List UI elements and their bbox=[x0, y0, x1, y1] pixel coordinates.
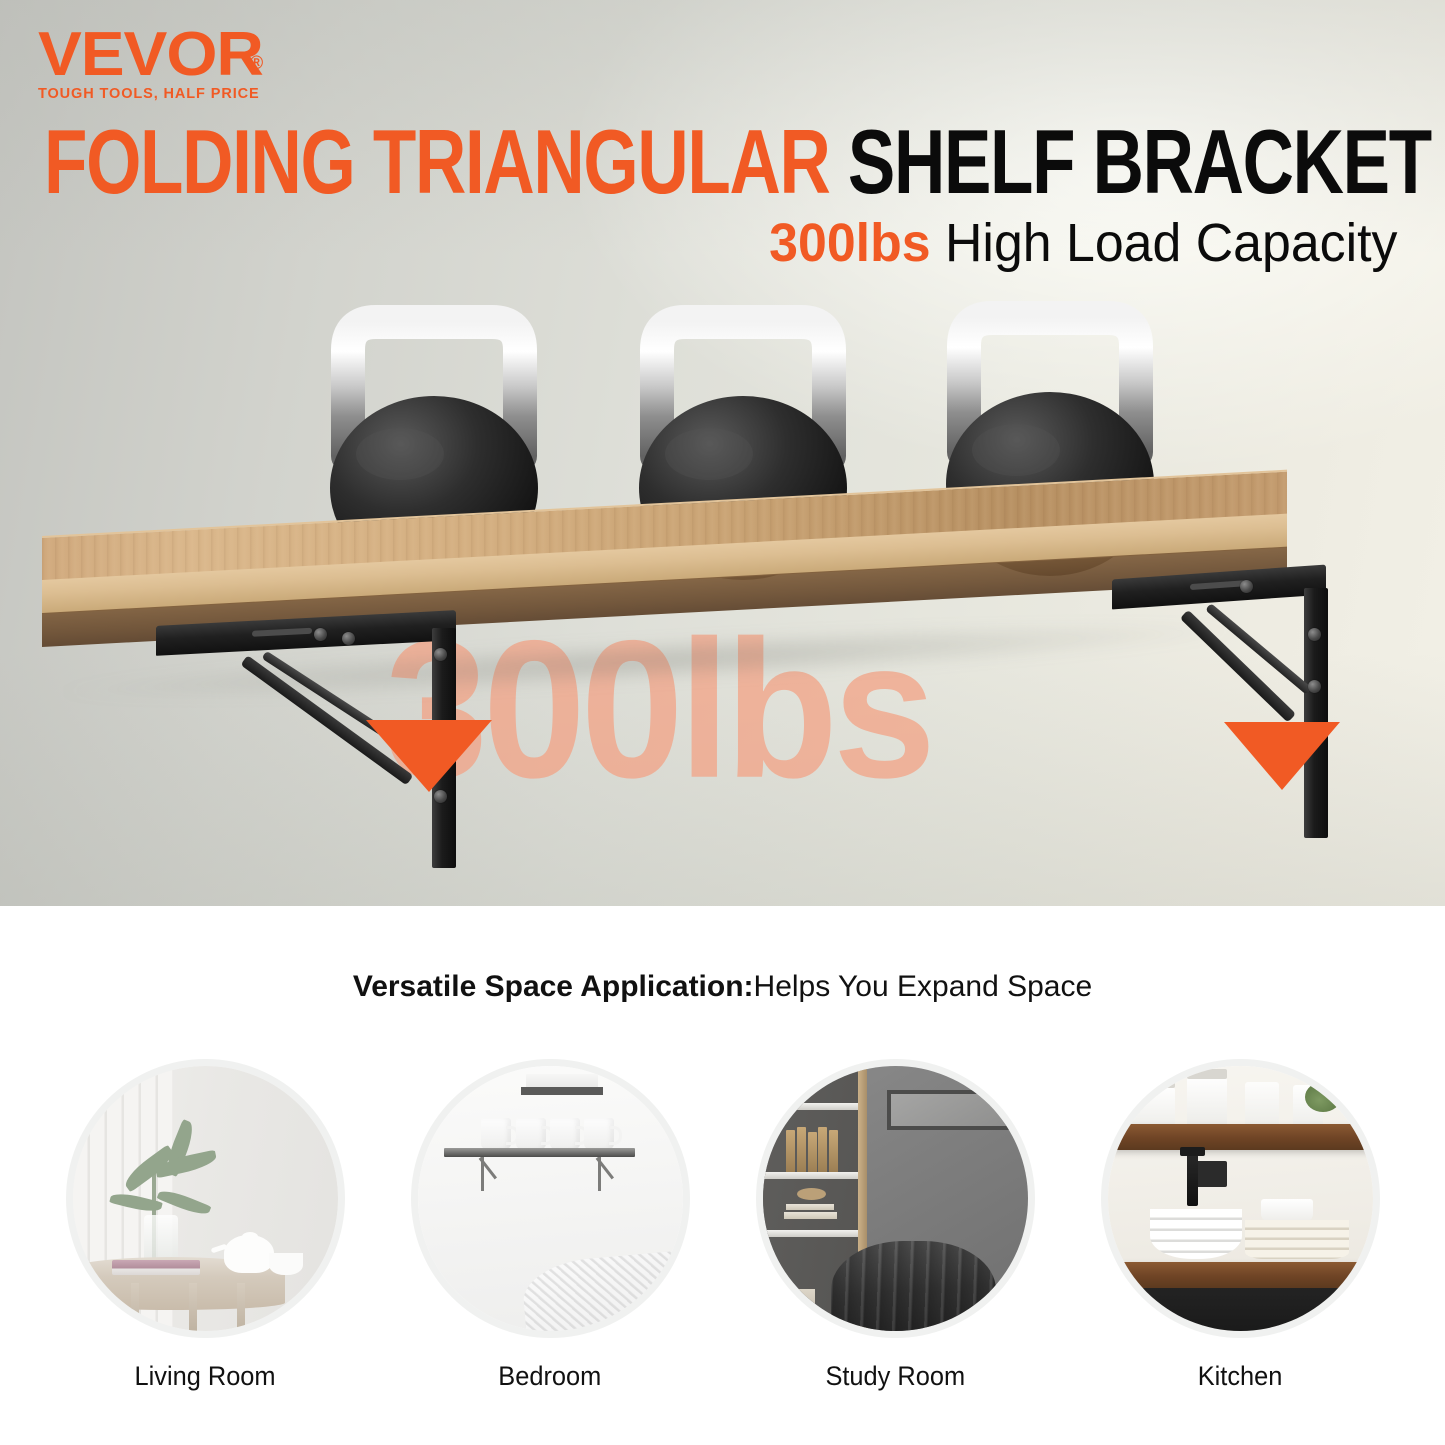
bracket-bolt bbox=[1308, 628, 1321, 641]
application-thumbnail-list: Living Room Bedroom bbox=[0, 1066, 1445, 1392]
bedroom-thumbnail[interactable] bbox=[418, 1066, 683, 1331]
bracket-bolt bbox=[1308, 680, 1321, 693]
subtitle: 300lbs High Load Capacity bbox=[769, 216, 1397, 270]
application-section: Versatile Space Application:Helps You Ex… bbox=[0, 906, 1445, 1445]
load-capacity-value: 300lbs bbox=[769, 213, 930, 273]
application-item-living-room[interactable]: Living Room bbox=[73, 1066, 338, 1392]
registered-trademark-icon: ® bbox=[250, 56, 263, 72]
bracket-arm-right bbox=[1112, 565, 1326, 610]
study-room-thumbnail[interactable] bbox=[763, 1066, 1028, 1331]
bracket-bolt bbox=[342, 632, 355, 645]
living-room-scene bbox=[73, 1066, 338, 1331]
kitchen-label: Kitchen bbox=[1198, 1361, 1283, 1392]
load-arrow-left-icon bbox=[364, 718, 494, 794]
kitchen-thumbnail[interactable] bbox=[1108, 1066, 1373, 1331]
page-title: FOLDING TRIANGULAR SHELF BRACKET bbox=[44, 118, 1436, 209]
kitchen-scene bbox=[1108, 1066, 1373, 1331]
headline-part-1: FOLDING TRIANGULAR bbox=[44, 112, 829, 213]
bedroom-scene bbox=[418, 1066, 683, 1331]
load-arrow-right-icon bbox=[1222, 720, 1342, 792]
application-item-kitchen[interactable]: Kitchen bbox=[1108, 1066, 1373, 1392]
bedroom-label: Bedroom bbox=[499, 1361, 602, 1392]
bracket-arm-slot bbox=[1190, 580, 1246, 590]
headline-part-2: SHELF BRACKET bbox=[848, 112, 1431, 213]
bracket-post-right bbox=[1304, 588, 1328, 838]
bracket-arm-slot bbox=[252, 628, 312, 637]
living-room-label: Living Room bbox=[134, 1361, 275, 1392]
application-title-bold: Versatile Space Application: bbox=[353, 970, 754, 1003]
application-title-regular: Helps You Expand Space bbox=[754, 970, 1093, 1003]
bracket-arm-left bbox=[156, 610, 456, 656]
study-room-label: Study Room bbox=[825, 1361, 965, 1392]
living-room-thumbnail[interactable] bbox=[73, 1066, 338, 1331]
application-item-study-room[interactable]: Study Room bbox=[763, 1066, 1028, 1392]
application-item-bedroom[interactable]: Bedroom bbox=[418, 1066, 683, 1392]
bracket-bolt bbox=[1240, 580, 1253, 593]
brand-name: VEVOR® bbox=[38, 28, 264, 81]
brand-tagline: TOUGH TOOLS, HALF PRICE bbox=[38, 86, 264, 102]
application-section-title: Versatile Space Application:Helps You Ex… bbox=[0, 970, 1445, 1004]
load-capacity-label: High Load Capacity bbox=[945, 213, 1397, 273]
shelf-bracket-right bbox=[1112, 564, 1432, 844]
brand-logo: VEVOR® TOUGH TOOLS, HALF PRICE bbox=[38, 28, 264, 102]
brand-wordmark: VEVOR bbox=[38, 28, 263, 81]
hero-banner: VEVOR® TOUGH TOOLS, HALF PRICE FOLDING T… bbox=[0, 0, 1445, 906]
bracket-bolt bbox=[434, 648, 447, 661]
bracket-bolt bbox=[314, 628, 327, 641]
study-room-scene bbox=[763, 1066, 1028, 1331]
